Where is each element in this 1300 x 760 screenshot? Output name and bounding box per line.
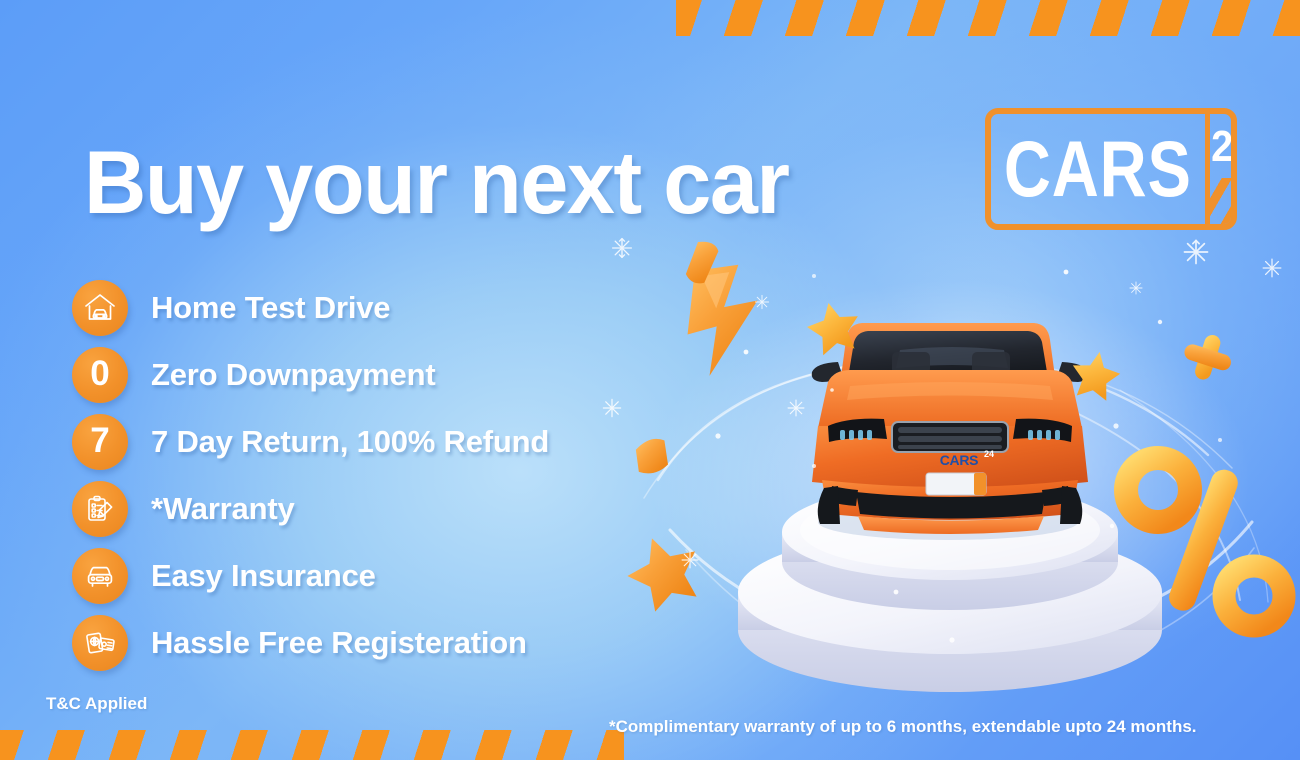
orange-suv — [812, 323, 1089, 540]
snowflake — [788, 400, 804, 416]
list-item: 7 7 Day Return, 100% Refund — [72, 408, 549, 475]
snowflake — [613, 239, 632, 258]
logo-hatch-stripes — [1210, 178, 1231, 224]
list-item: 0 Zero Downpayment — [72, 341, 549, 408]
warranty-clipboard-icon — [72, 481, 128, 537]
list-item-label: Home Test Drive — [151, 290, 390, 326]
hero-illustration: CARS 24 — [600, 230, 1300, 700]
cars24-logo[interactable]: CARS 24 — [985, 108, 1237, 230]
bottom-stripe-band — [0, 730, 624, 760]
snowflake — [1263, 259, 1281, 277]
list-item-label: Zero Downpayment — [151, 357, 435, 393]
list-item-label: Easy Insurance — [151, 558, 376, 594]
insurance-car-icon — [72, 548, 128, 604]
list-item-label: *Warranty — [151, 491, 294, 527]
logo-right-panel: 24 — [1210, 114, 1231, 224]
logo-wordmark: CARS — [1004, 110, 1192, 228]
zero-numeral-icon: 0 — [72, 347, 128, 403]
list-item: *Warranty — [72, 475, 549, 542]
snowflake — [1130, 282, 1142, 294]
logo-number: 24 — [1211, 122, 1230, 172]
feature-list: Home Test Drive 0 Zero Downpayment 7 7 D… — [72, 274, 549, 676]
home-test-drive-icon — [72, 280, 128, 336]
list-item: Easy Insurance — [72, 542, 549, 609]
snowflake — [1184, 240, 1207, 263]
badge-numeral: 7 — [90, 423, 109, 460]
top-stripe-band — [676, 0, 1300, 36]
list-item: Home Test Drive — [72, 274, 549, 341]
warranty-disclaimer: *Complimentary warranty of up to 6 month… — [609, 717, 1197, 737]
badge-numeral: 0 — [90, 356, 109, 393]
list-item-label: 7 Day Return, 100% Refund — [151, 424, 549, 460]
seven-numeral-icon: 7 — [72, 414, 128, 470]
snowflake — [682, 552, 698, 568]
snowflake — [755, 295, 768, 308]
page-title: Buy your next car — [84, 131, 789, 234]
snowflake — [603, 399, 620, 416]
list-item: Hassle Free Registeration — [72, 609, 549, 676]
registration-documents-icon — [72, 615, 128, 671]
list-item-label: Hassle Free Registeration — [151, 625, 527, 661]
promo-banner: Buy your next car CARS 24 Home Test Driv… — [0, 0, 1300, 760]
terms-note: T&C Applied — [46, 694, 147, 714]
license-plate-number: 24 — [984, 449, 994, 459]
license-plate-text: CARS — [933, 452, 985, 468]
